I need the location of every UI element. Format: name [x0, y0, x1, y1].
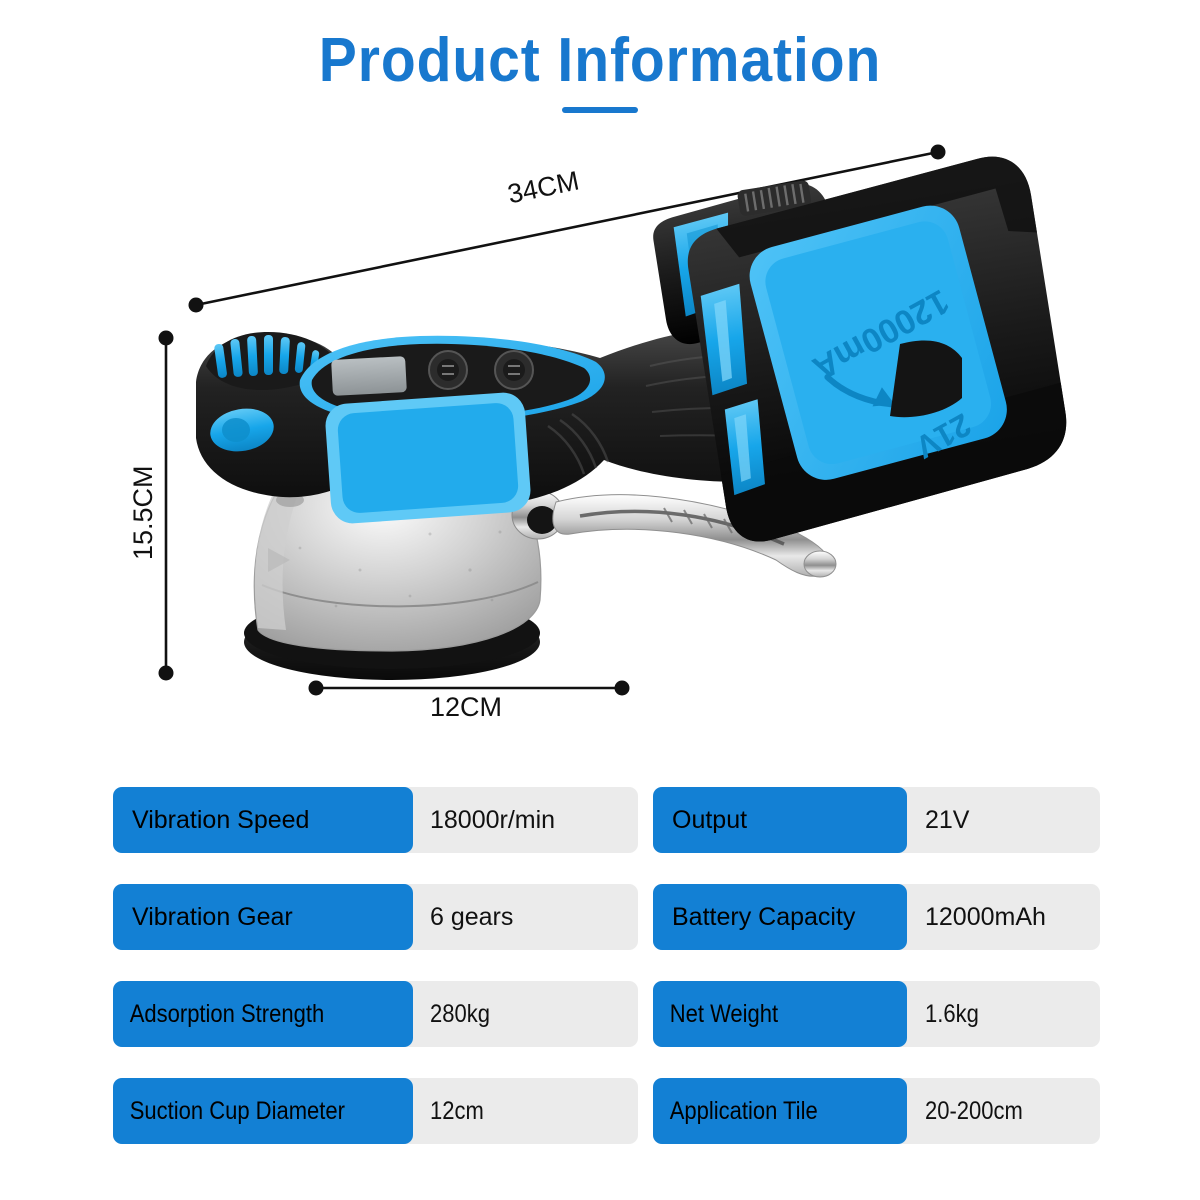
spec-row-suction-cup-diameter: Suction Cup Diameter 12cm	[100, 1078, 640, 1144]
product-hero: 12000mA 21V 34CM 15.5CM 12CM	[0, 130, 1200, 770]
spec-label-pill: Net Weight	[653, 981, 907, 1047]
spec-row-adsorption-strength: Adsorption Strength 280kg	[100, 981, 640, 1047]
product-information-page: Product Information	[0, 0, 1200, 1200]
spec-value-text: 6 gears	[430, 884, 513, 950]
dimension-label-height: 15.5CM	[128, 465, 159, 560]
title-underline-accent	[562, 107, 638, 113]
spec-row-output: Output 21V	[640, 787, 1100, 853]
page-header: Product Information	[0, 28, 1200, 113]
page-title: Product Information	[48, 28, 1152, 93]
spec-row-vibration-gear: Vibration Gear 6 gears	[100, 884, 640, 950]
spec-row-net-weight: Net Weight 1.6kg	[640, 981, 1100, 1047]
spec-row-battery-capacity: Battery Capacity 12000mAh	[640, 884, 1100, 950]
spec-value-text: 20-200cm	[925, 1078, 1023, 1144]
spec-label-pill: Battery Capacity	[653, 884, 907, 950]
spec-label-text: Suction Cup Diameter	[113, 1099, 345, 1124]
spec-label-pill: Output	[653, 787, 907, 853]
spec-value-text: 280kg	[430, 981, 490, 1047]
lcd-display	[331, 356, 407, 396]
spec-label-text: Output	[653, 808, 747, 833]
spec-label-text: Net Weight	[653, 1002, 778, 1027]
spec-label-text: Battery Capacity	[653, 905, 855, 930]
spec-value-text: 12cm	[430, 1078, 484, 1144]
battery-pack: 12000mA 21V	[648, 146, 1078, 551]
spec-row-vibration-speed: Vibration Speed 18000r/min	[100, 787, 640, 853]
spec-label-text: Adsorption Strength	[113, 1002, 324, 1027]
control-button-1	[429, 351, 467, 389]
spec-value-text: 1.6kg	[925, 981, 979, 1047]
spec-label-text: Application Tile	[653, 1099, 818, 1124]
spec-row-application-tile: Application Tile 20-200cm	[640, 1078, 1100, 1144]
spec-label-text: Vibration Gear	[113, 905, 293, 930]
spec-value-text: 12000mAh	[925, 884, 1046, 950]
spec-value-text: 21V	[925, 787, 969, 853]
dimension-label-suction-diameter: 12CM	[430, 692, 502, 723]
product-illustration: 12000mA 21V	[0, 130, 1200, 770]
side-accent-plate	[324, 391, 532, 525]
spec-value-text: 18000r/min	[430, 787, 555, 853]
spec-label-pill: Suction Cup Diameter	[113, 1078, 413, 1144]
control-button-2	[495, 351, 533, 389]
spec-label-pill: Adsorption Strength	[113, 981, 413, 1047]
dimension-line-155cm	[159, 331, 174, 681]
spec-label-pill: Application Tile	[653, 1078, 907, 1144]
spec-label-text: Vibration Speed	[113, 808, 309, 833]
spec-label-pill: Vibration Gear	[113, 884, 413, 950]
spec-label-pill: Vibration Speed	[113, 787, 413, 853]
